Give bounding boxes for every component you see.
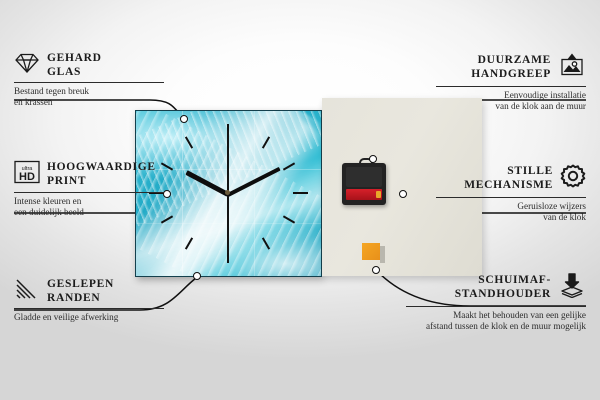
press-down-pad-icon — [558, 272, 586, 303]
title-rule — [436, 86, 586, 87]
infographic-canvas: GEHARD GLAS Bestand tegen breuk en krass… — [0, 0, 600, 400]
title-rule — [436, 197, 586, 198]
ultra-hd-icon: ultra HD — [14, 160, 40, 189]
feature-title: HOOGWAARDIGE PRINT — [47, 161, 156, 188]
movement-body — [346, 167, 382, 187]
title-rule — [14, 82, 164, 83]
battery — [346, 189, 382, 200]
feature-description: Maakt het behouden van een gelijke afsta… — [406, 310, 586, 332]
svg-text:HD: HD — [19, 171, 35, 183]
framed-picture-hanger-icon — [558, 52, 586, 83]
feature-gehard-glas: GEHARD GLAS Bestand tegen breuk en krass… — [14, 52, 164, 108]
feature-hoogwaardige-print: ultra HD HOOGWAARDIGE PRINT Intense kleu… — [14, 160, 164, 218]
foam-spacer-pad — [362, 243, 380, 260]
battery-terminal — [376, 191, 381, 198]
title-rule — [14, 308, 164, 309]
gear-icon — [560, 163, 586, 194]
feature-title: STILLE MECHANISME — [464, 165, 553, 192]
callout-marker-standhouder — [372, 266, 380, 274]
callout-marker-print — [163, 190, 171, 198]
title-rule — [406, 306, 586, 307]
feature-title: GEHARD GLAS — [47, 52, 102, 79]
feature-schuimafstandhouder: SCHUIMAF- STANDHOUDER Maakt het behouden… — [406, 272, 586, 332]
feature-description: Gladde en veilige afwerking — [14, 312, 164, 323]
clock-center-cap — [225, 190, 230, 195]
feature-description: Intense kleuren en een duidelijk beeld — [14, 196, 164, 218]
feature-description: Eenvoudige installatie van de klok aan d… — [436, 90, 586, 112]
callout-marker-handgreep — [369, 155, 377, 163]
clock-movement-mechanism — [342, 163, 386, 205]
callout-marker-randen — [193, 272, 201, 280]
feature-title: DUURZAME HANDGREEP — [471, 54, 551, 81]
feature-title: GESLEPEN RANDEN — [47, 278, 114, 305]
feature-description: Bestand tegen breuk en krassen — [14, 86, 164, 108]
callout-marker-mechanisme — [399, 190, 407, 198]
feature-title: SCHUIMAF- STANDHOUDER — [455, 274, 551, 301]
feature-description: Geruisloze wijzers van de klok — [436, 201, 586, 223]
feature-duurzame-handgreep: DUURZAME HANDGREEP Eenvoudige installati… — [436, 52, 586, 112]
diamond-icon — [14, 52, 40, 79]
feature-geslepen-randen: GESLEPEN RANDEN Gladde en veilige afwerk… — [14, 278, 164, 323]
beveled-edge-icon — [14, 278, 40, 305]
title-rule — [14, 192, 164, 193]
foam-spacer-side — [380, 246, 385, 263]
callout-marker-gehard-glas — [180, 115, 188, 123]
feature-stille-mechanisme: STILLE MECHANISME Geruisloze wijzers van… — [436, 163, 586, 223]
